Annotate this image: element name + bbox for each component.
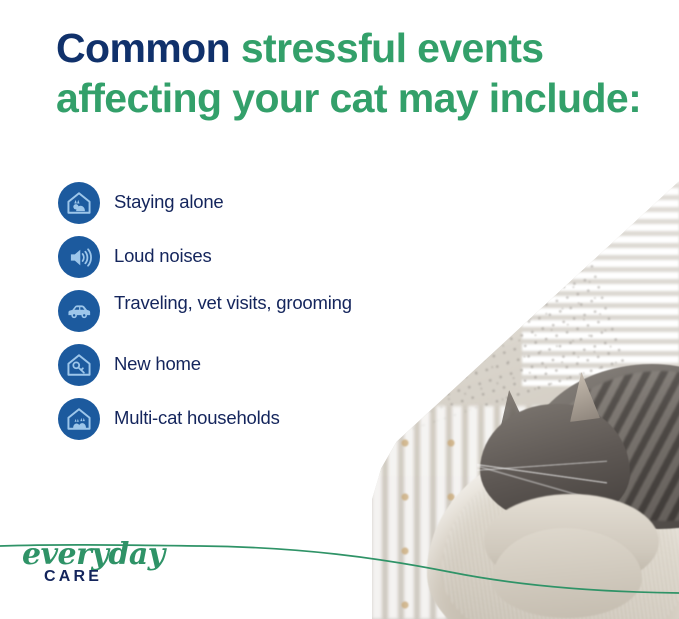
infographic-page: Common stressful events affecting your c… xyxy=(0,0,679,619)
list-item: New home xyxy=(58,344,358,386)
house-key-icon xyxy=(58,344,100,386)
page-title-highlight: Common xyxy=(56,25,230,71)
car-icon xyxy=(58,290,100,332)
house-multi-cat-icon xyxy=(58,398,100,440)
list-item-label: Traveling, vet visits, grooming xyxy=(114,290,352,315)
list-item-label: Multi-cat households xyxy=(114,398,280,430)
list-item: Traveling, vet visits, grooming xyxy=(58,290,358,332)
cat-photo xyxy=(372,176,679,619)
list-item-label: Staying alone xyxy=(114,182,224,214)
list-item-label: Loud noises xyxy=(114,236,212,268)
list-item: Staying alone xyxy=(58,182,358,224)
list-item: Loud noises xyxy=(58,236,358,278)
logo-wordmark: everyday xyxy=(22,540,172,570)
speaker-loud-icon xyxy=(58,236,100,278)
brand-logo: everyday CARE xyxy=(22,540,172,586)
house-cat-icon xyxy=(58,182,100,224)
list-item-label: New home xyxy=(114,344,201,376)
cat-photo-canvas xyxy=(372,176,679,619)
page-title: Common stressful events affecting your c… xyxy=(56,23,656,123)
stressful-events-list: Staying alone Loud noises xyxy=(58,182,358,452)
list-item: Multi-cat households xyxy=(58,398,358,440)
